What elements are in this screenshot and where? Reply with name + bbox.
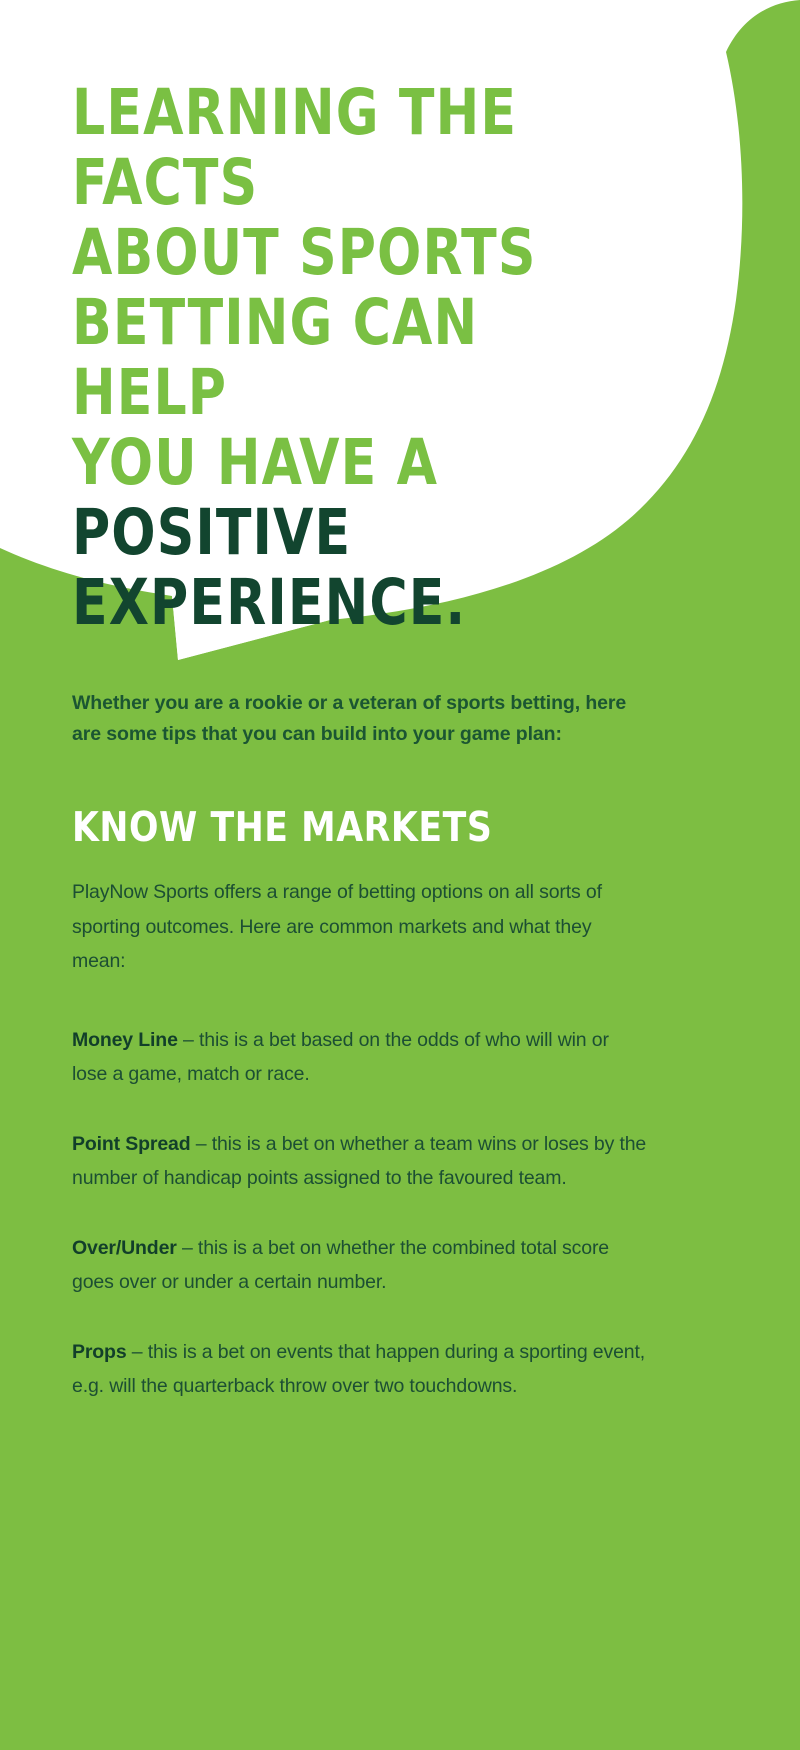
lead-paragraph: PlayNow Sports offers a range of betting… — [72, 875, 647, 979]
headline-line-2: ABOUT SPORTS — [72, 216, 536, 289]
market-definition-props: – this is a bet on events that happen du… — [72, 1341, 645, 1398]
market-term-props: Props — [72, 1341, 127, 1363]
headline: LEARNING THE FACTSABOUT SPORTSBETTING CA… — [72, 78, 642, 638]
headline-line-3: BETTING CAN HELP — [72, 286, 478, 429]
headline-line-4-light: YOU HAVE A — [72, 426, 438, 499]
market-term-point-spread: Point Spread — [72, 1133, 190, 1155]
market-props: Props – this is a bet on events that hap… — [72, 1335, 647, 1404]
market-term-over-under: Over/Under — [72, 1237, 177, 1259]
headline-line-5-dark: EXPERIENCE. — [72, 566, 466, 639]
body-copy: Whether you are a rookie or a veteran of… — [72, 688, 652, 1404]
market-point-spread: Point Spread – this is a bet on whether … — [72, 1127, 647, 1196]
headline-line-4-dark: POSITIVE — [72, 496, 351, 569]
poster-page: LEARNING THE FACTSABOUT SPORTSBETTING CA… — [0, 0, 800, 1750]
market-over-under: Over/Under – this is a bet on whether th… — [72, 1231, 647, 1300]
section-title-know-the-markets: KNOW THE MARKETS — [72, 805, 617, 849]
market-money-line: Money Line – this is a bet based on the … — [72, 1023, 647, 1092]
headline-block: LEARNING THE FACTSABOUT SPORTSBETTING CA… — [72, 78, 692, 638]
market-term-money-line: Money Line — [72, 1029, 178, 1051]
intro-paragraph: Whether you are a rookie or a veteran of… — [72, 688, 652, 749]
headline-line-1: LEARNING THE FACTS — [72, 76, 517, 219]
